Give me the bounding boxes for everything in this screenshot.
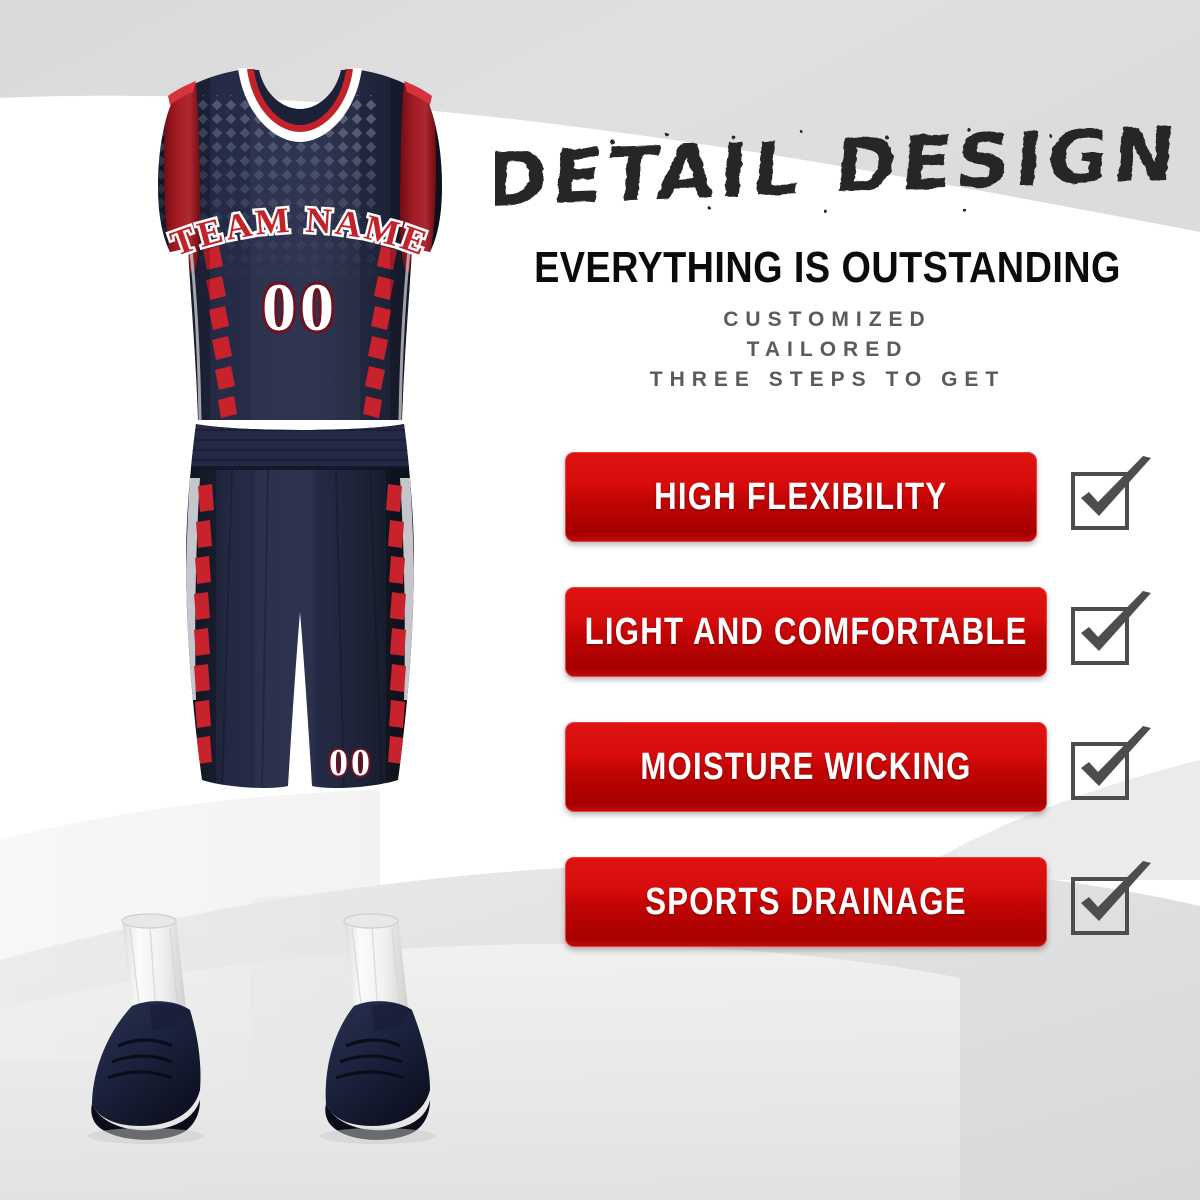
jersey-graphic: TEAM NAME 00 (130, 60, 460, 440)
headline: EVERYTHING IS OUTSTANDING (507, 243, 1148, 293)
jersey-number: 00 (262, 269, 338, 345)
feature-label: MOISTURE WICKING (640, 746, 971, 789)
feature-row: LIGHT AND COMFORTABLE (455, 587, 1200, 687)
page-title: DETAIL DESIGN (495, 112, 1185, 222)
feature-bar-sports-drainage[interactable]: SPORTS DRAINAGE (565, 857, 1047, 947)
subtitle-line-3: THREE STEPS TO GET (455, 365, 1200, 395)
feature-bar-moisture-wicking[interactable]: MOISTURE WICKING (565, 722, 1047, 812)
product-image-basketball-uniform: TEAM NAME 00 (0, 0, 520, 1200)
checkmark-icon (1065, 589, 1151, 675)
feature-label: SPORTS DRAINAGE (645, 881, 966, 924)
feature-row: SPORTS DRAINAGE (455, 857, 1200, 957)
subtitle-group: CUSTOMIZED TAILORED THREE STEPS TO GET (455, 305, 1200, 395)
checkmark-icon (1065, 724, 1151, 810)
socks-and-shoes-graphic (88, 914, 436, 1144)
shorts-number: 00 (329, 742, 373, 784)
subtitle-line-2: TAILORED (455, 335, 1200, 365)
feature-bar-light-and-comfortable[interactable]: LIGHT AND COMFORTABLE (565, 587, 1047, 677)
page-title-text: DETAIL DESIGN (495, 112, 1184, 222)
checkmark-icon (1065, 454, 1151, 540)
feature-label: HIGH FLEXIBILITY (654, 476, 947, 519)
feature-row: MOISTURE WICKING (455, 722, 1200, 822)
checkmark-icon (1065, 859, 1151, 945)
subtitle-line-1: CUSTOMIZED (455, 305, 1200, 335)
feature-row: HIGH FLEXIBILITY (455, 452, 1200, 552)
feature-list: HIGH FLEXIBILITY LIGHT AND COMFORTABLE (455, 452, 1200, 992)
shorts-graphic: 00 (180, 420, 420, 800)
feature-bar-high-flexibility[interactable]: HIGH FLEXIBILITY (565, 452, 1037, 542)
feature-label: LIGHT AND COMFORTABLE (585, 611, 1028, 654)
